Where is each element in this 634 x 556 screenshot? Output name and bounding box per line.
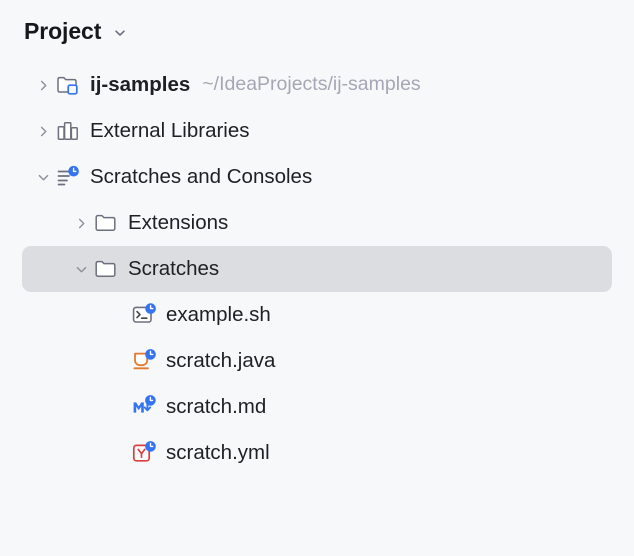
tree-node-location: ~/IdeaProjects/ij-samples (202, 75, 420, 95)
tree-node-label: Scratches and Consoles (90, 167, 312, 188)
tree-row[interactable]: scratch.java (22, 338, 612, 384)
page-title: Project (24, 20, 101, 43)
markdown-scratch-icon (130, 393, 158, 421)
yaml-scratch-icon (130, 439, 158, 467)
tree-row[interactable]: ij-samples~/IdeaProjects/ij-samples (22, 62, 612, 108)
tree-node-label: Scratches (128, 259, 219, 280)
java-scratch-icon (130, 347, 158, 375)
tree-node-label: ij-samples (90, 75, 190, 96)
tree-node-label: scratch.md (166, 397, 266, 418)
tree-row[interactable]: Scratches and Consoles (22, 154, 612, 200)
tree-row[interactable]: example.sh (22, 292, 612, 338)
chevron-right-icon[interactable] (32, 62, 54, 108)
tree-row[interactable]: Extensions (22, 200, 612, 246)
tree-node-label: scratch.yml (166, 443, 270, 464)
tree-node-label: Extensions (128, 213, 228, 234)
scratches-and-consoles-icon (54, 163, 82, 191)
chevron-down-icon[interactable] (32, 154, 54, 200)
tree-twisty-placeholder (108, 338, 130, 384)
external-libraries-icon (54, 117, 82, 145)
tree-row[interactable]: External Libraries (22, 108, 612, 154)
folder-icon (92, 209, 120, 237)
shell-script-scratch-icon (130, 301, 158, 329)
tree-node-label: scratch.java (166, 351, 275, 372)
chevron-down-icon[interactable] (70, 246, 92, 292)
project-tree[interactable]: ij-samples~/IdeaProjects/ij-samples Exte… (0, 62, 634, 476)
tree-twisty-placeholder (108, 384, 130, 430)
folder-icon (92, 255, 120, 283)
tree-twisty-placeholder (108, 430, 130, 476)
tree-node-label: example.sh (166, 305, 271, 326)
tree-twisty-placeholder (108, 292, 130, 338)
tree-row[interactable]: scratch.md (22, 384, 612, 430)
tree-row[interactable]: scratch.yml (22, 430, 612, 476)
chevron-right-icon[interactable] (70, 200, 92, 246)
chevron-right-icon[interactable] (32, 108, 54, 154)
tree-row[interactable]: Scratches (22, 246, 612, 292)
module-folder-icon (54, 71, 82, 99)
tree-node-label: External Libraries (90, 121, 250, 142)
chevron-down-icon[interactable] (111, 24, 129, 42)
project-panel-header[interactable]: Project (0, 0, 634, 36)
